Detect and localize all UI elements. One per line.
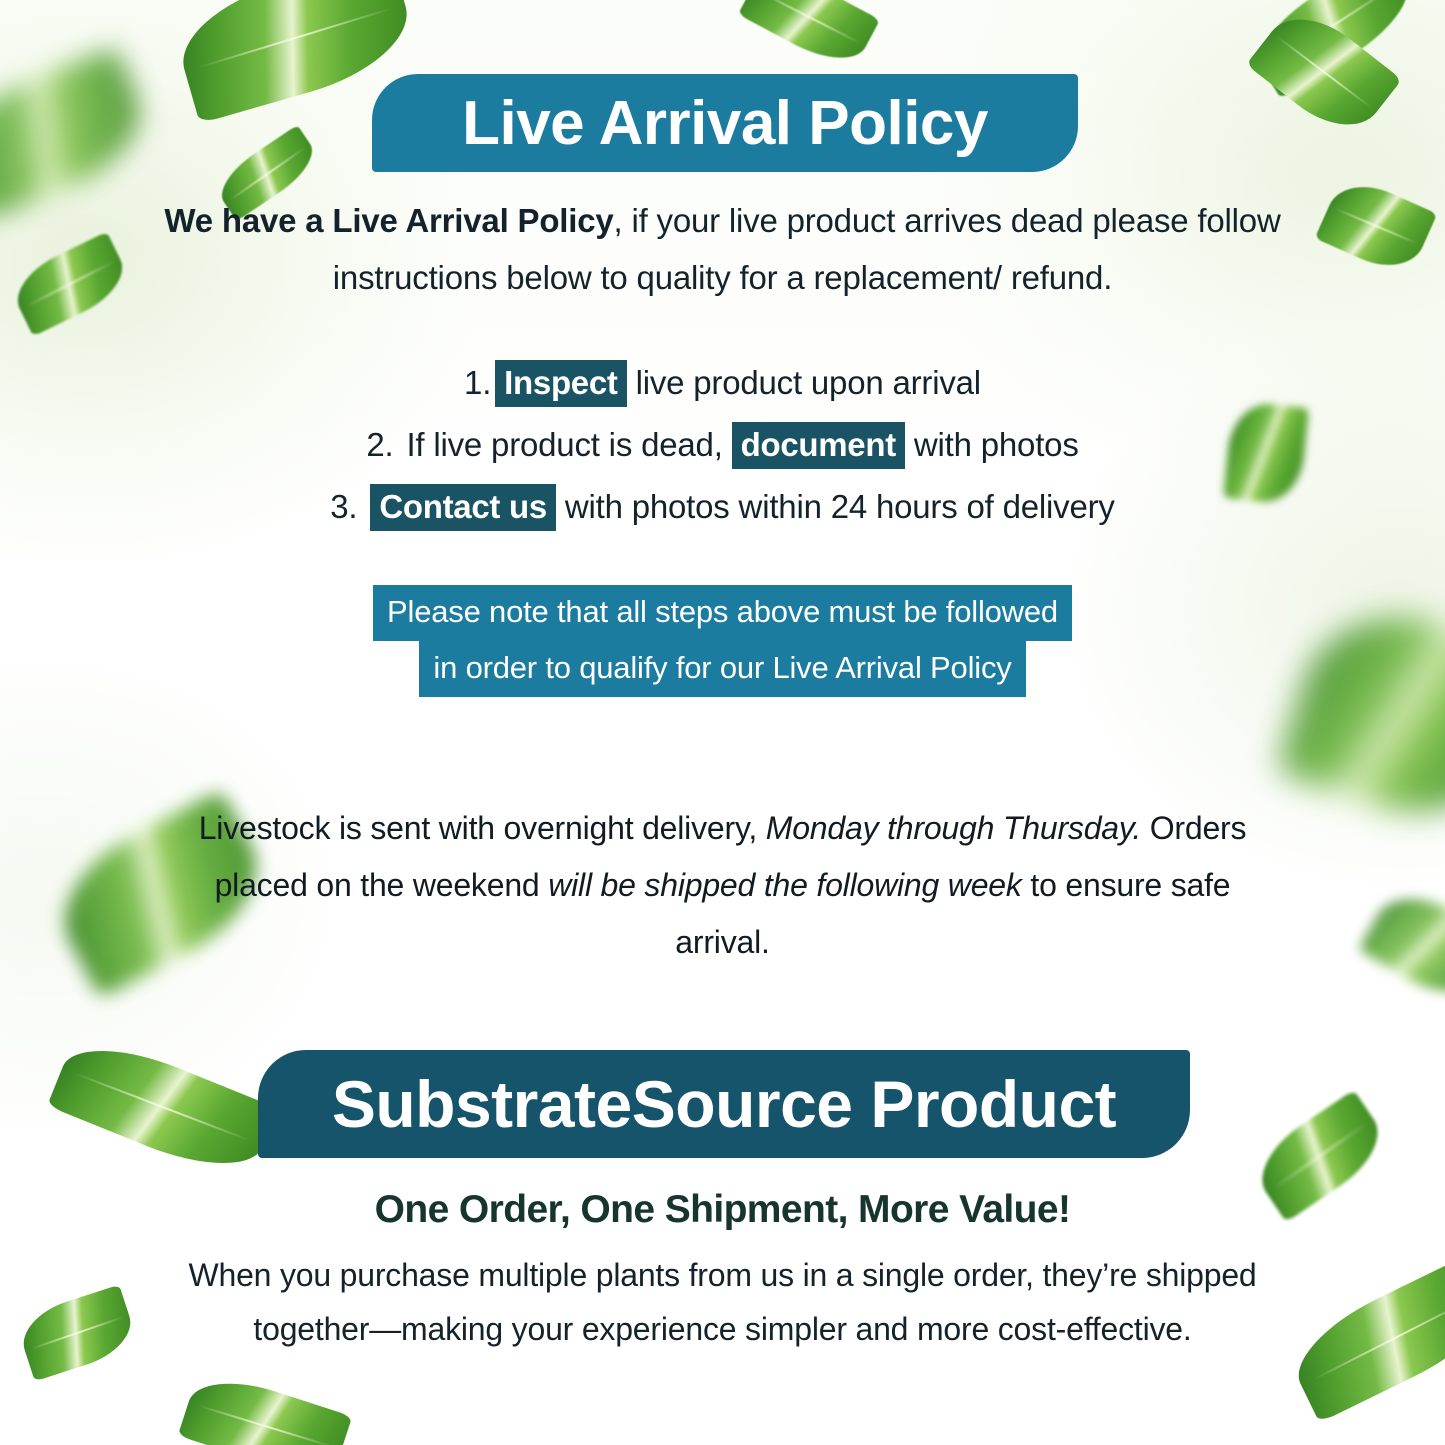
step-text-after: with photos [905, 426, 1079, 463]
policy-note-block: Please note that all steps above must be… [150, 585, 1295, 697]
shipping-italic-2: will be shipped the following week [548, 867, 1021, 903]
step-number: 2. [366, 426, 393, 463]
intro-paragraph: We have a Live Arrival Policy, if your l… [150, 192, 1295, 306]
shipping-italic-1: Monday through Thursday. [766, 810, 1141, 846]
live-arrival-policy-title: Live Arrival Policy [462, 88, 988, 159]
step-number: 1. [464, 364, 491, 401]
step-text-after: live product upon arrival [627, 364, 981, 401]
poster-canvas: Live Arrival Policy We have a Live Arriv… [0, 0, 1445, 1445]
policy-note-line-2: in order to qualify for our Live Arrival… [419, 641, 1025, 697]
intro-bold-lead: We have a Live Arrival Policy [164, 202, 613, 239]
intro-line-1: We have a Live Arrival Policy, if your l… [150, 192, 1295, 249]
poster-content: Live Arrival Policy We have a Live Arriv… [0, 0, 1445, 1445]
shipping-part-1: Livestock is sent with overnight deliver… [199, 810, 766, 846]
intro-line-2: instructions below to quality for a repl… [150, 249, 1295, 306]
step-text-before: If live product is dead, [397, 426, 731, 463]
contact-us-highlight: Contact us [370, 484, 556, 531]
list-item: 3. Contact us with photos within 24 hour… [150, 476, 1295, 538]
inspect-highlight: Inspect [495, 360, 626, 407]
substratesource-product-title: SubstrateSource Product [332, 1066, 1116, 1142]
steps-list: 1.Inspect live product upon arrival 2. I… [150, 352, 1295, 538]
substratesource-product-banner: SubstrateSource Product [258, 1050, 1190, 1158]
list-item: 1.Inspect live product upon arrival [150, 352, 1295, 414]
product-subheading: One Order, One Shipment, More Value! [190, 1188, 1255, 1232]
policy-note-line-1: Please note that all steps above must be… [373, 585, 1072, 641]
list-item: 2. If live product is dead, document wit… [150, 414, 1295, 476]
live-arrival-policy-banner: Live Arrival Policy [372, 74, 1078, 172]
intro-line-1-rest: , if your live product arrives dead plea… [614, 202, 1281, 239]
step-text-after: with photos within 24 hours of delivery [556, 488, 1115, 525]
document-highlight: document [732, 422, 905, 469]
step-number: 3. [330, 488, 357, 525]
shipping-paragraph: Livestock is sent with overnight deliver… [190, 800, 1255, 971]
product-body-paragraph: When you purchase multiple plants from u… [150, 1248, 1295, 1356]
